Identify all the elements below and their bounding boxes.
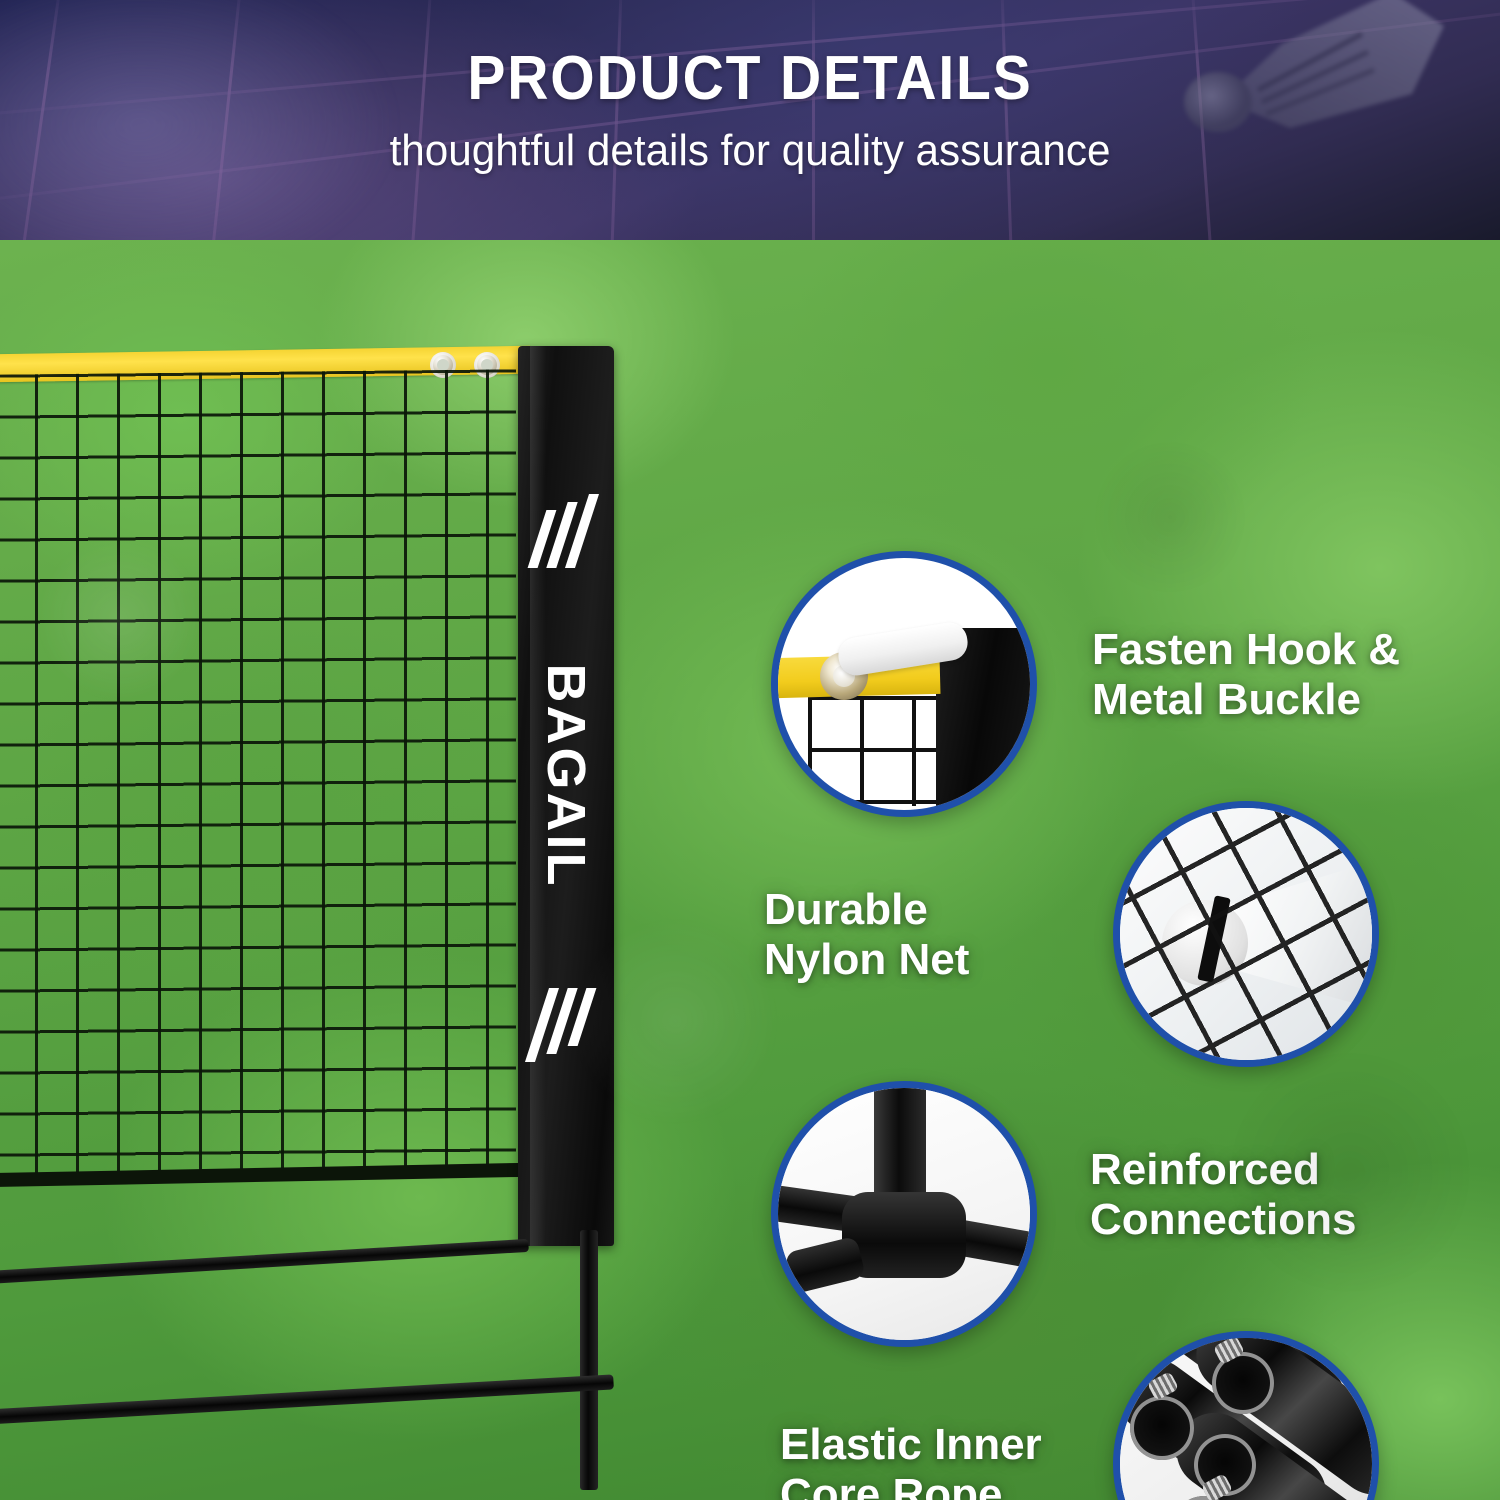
vertical-pole xyxy=(580,1230,598,1490)
header-banner: PRODUCT DETAILS thoughtful details for q… xyxy=(0,0,1500,240)
product-details-infographic: PRODUCT DETAILS thoughtful details for q… xyxy=(0,0,1500,1500)
callout-durable-nylon-net xyxy=(1113,801,1379,1067)
callout-pole-opening xyxy=(1130,1396,1194,1460)
banner-text-block: PRODUCT DETAILS thoughtful details for q… xyxy=(0,0,1500,174)
brand-name: BAGAIL xyxy=(535,664,597,889)
feature-label-elastic-inner-core-rope: Elastic Inner Core Rope xyxy=(780,1420,1042,1500)
callout-elastic-inner-core-rope xyxy=(1113,1331,1379,1500)
net-post-sleeve: BAGAIL xyxy=(518,346,614,1246)
feature-label-reinforced-connections: Reinforced Connections xyxy=(1090,1145,1356,1245)
banner-title: PRODUCT DETAILS xyxy=(60,48,1440,110)
net-lower-rail xyxy=(0,1239,529,1284)
base-cross-rail xyxy=(0,1374,614,1424)
portable-net-product: BAGAIL xyxy=(0,350,634,1350)
banner-subtitle: thoughtful details for quality assurance xyxy=(30,128,1470,174)
brand-logo-column: BAGAIL xyxy=(518,486,614,1066)
callout-reinforced-connections xyxy=(771,1081,1037,1347)
feature-label-fasten-hook-metal-buckle: Fasten Hook & Metal Buckle xyxy=(1092,625,1400,725)
callout-fasten-hook-metal-buckle xyxy=(771,551,1037,817)
logo-stripes-icon xyxy=(531,988,601,1062)
callout-nylon-mesh xyxy=(1113,801,1379,1067)
product-photo-background: BAGAIL xyxy=(0,240,1500,1500)
logo-stripes-icon xyxy=(531,494,601,568)
callout-net-detail xyxy=(808,696,938,806)
net-mesh xyxy=(0,369,516,1174)
feature-label-durable-nylon-net: Durable Nylon Net xyxy=(764,885,969,985)
